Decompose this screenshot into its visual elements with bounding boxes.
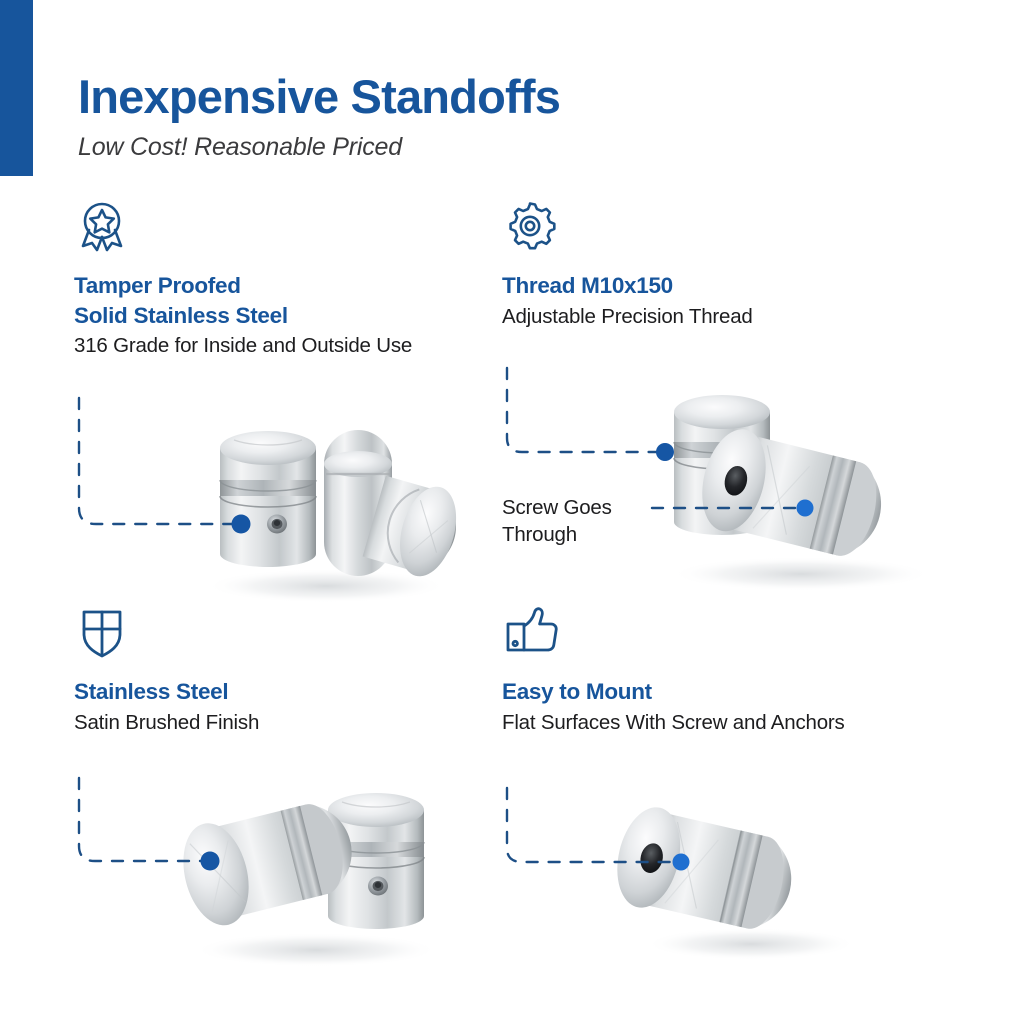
thumbs-up-icon <box>502 604 932 663</box>
feature-heading-line-1: Thread M10x150 <box>502 273 673 298</box>
feature-thread: Thread M10x150 Adjustable Precision Thre… <box>502 200 932 330</box>
product-image-easy-to-mount <box>616 766 886 971</box>
callout-screw-goes-through: Screw Goes Through <box>502 494 612 549</box>
product-image-thread <box>636 366 966 601</box>
feature-body: 316 Grade for Inside and Outside Use <box>74 332 504 359</box>
shield-icon <box>74 604 504 663</box>
set-screw <box>368 877 388 896</box>
infographic-page: Inexpensive Standoffs Low Cost! Reasonab… <box>0 0 1024 1024</box>
feature-heading-line-1: Easy to Mount <box>502 679 652 704</box>
standoff-lying <box>324 430 467 583</box>
feature-heading: Thread M10x150 <box>502 271 932 301</box>
header: Inexpensive Standoffs Low Cost! Reasonab… <box>78 72 878 162</box>
feature-body: Satin Brushed Finish <box>74 709 504 736</box>
feature-heading-line-1: Tamper Proofed <box>74 273 241 298</box>
feature-heading: Easy to Mount <box>502 677 932 707</box>
page-subtitle: Low Cost! Reasonable Priced <box>78 133 878 162</box>
feature-stainless-steel: Stainless Steel Satin Brushed Finish <box>74 604 504 736</box>
feature-heading: Stainless Steel <box>74 677 504 707</box>
award-star-icon <box>74 200 504 257</box>
set-screw <box>267 515 287 534</box>
product-image-tamper-proofed <box>176 396 476 611</box>
feature-easy-to-mount: Easy to Mount Flat Surfaces With Screw a… <box>502 604 932 736</box>
accent-bar <box>0 0 33 176</box>
feature-body: Adjustable Precision Thread <box>502 303 932 330</box>
standoff-tilted-bore <box>616 801 801 940</box>
feature-heading-line-1: Stainless Steel <box>74 679 228 704</box>
feature-tamper-proofed: Tamper Proofed Solid Stainless Steel 316… <box>74 200 504 360</box>
feature-body: Flat Surfaces With Screw and Anchors <box>502 709 932 736</box>
standoff-tilted-bore <box>692 423 892 567</box>
product-image-stainless-steel <box>166 756 466 976</box>
feature-heading: Tamper Proofed Solid Stainless Steel <box>74 271 504 330</box>
feature-heading-line-2: Solid Stainless Steel <box>74 303 288 328</box>
page-title: Inexpensive Standoffs <box>78 72 878 123</box>
gear-icon <box>502 200 932 257</box>
standoff-upright <box>220 431 316 567</box>
